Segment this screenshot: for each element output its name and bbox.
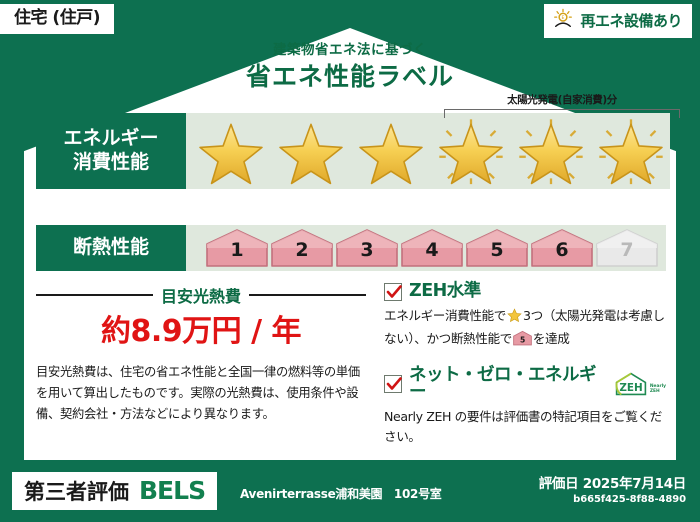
net-zero-energy-block: ネット・ゼロ・エネルギー ZEH Nearly ZEH bbox=[384, 367, 666, 448]
insulation-grade-4: 4 bbox=[401, 228, 463, 268]
property-name: Avenirterrasse浦和美園 102号室 bbox=[240, 488, 441, 500]
evaluation-id: b665f425-8f88-4890 bbox=[539, 493, 686, 507]
star-4 bbox=[432, 115, 510, 187]
zeh-body-part1: エネルギー消費性能で bbox=[384, 308, 506, 323]
grade-number: 6 bbox=[555, 241, 568, 268]
utility-cost-column: 目安光熱費 約8.9万円 / 年 目安光熱費は、住宅の省エネ性能と全国一律の燃料… bbox=[36, 283, 366, 425]
insulation-grades-panel: 1 2 3 4 5 6 7 bbox=[186, 225, 666, 271]
heading-rule-left bbox=[36, 294, 153, 296]
star-3 bbox=[352, 115, 430, 187]
insulation-grade-5: 5 bbox=[466, 228, 528, 268]
star-1 bbox=[192, 115, 270, 187]
lower-content-area: 目安光熱費 約8.9万円 / 年 目安光熱費は、住宅の省エネ性能と全国一律の燃料… bbox=[36, 283, 666, 423]
evaluation-date: 評価日 2025年7月14日 bbox=[539, 476, 686, 493]
utility-cost-title: 目安光熱費 bbox=[161, 283, 241, 307]
insulation-grade-chip: 5 bbox=[513, 330, 532, 352]
insulation-grade-6: 6 bbox=[531, 228, 593, 268]
net-zero-checkbox bbox=[384, 375, 402, 393]
svg-text:E: E bbox=[562, 15, 565, 21]
grade-number: 1 bbox=[230, 241, 243, 268]
zeh-standard-title: ZEH水準 bbox=[409, 283, 481, 301]
net-zero-body: Nearly ZEH の要件は評価書の特記項目をご覧ください。 bbox=[384, 407, 666, 448]
check-icon bbox=[386, 376, 402, 392]
star-2 bbox=[272, 115, 350, 187]
title-subtitle: 建築物省エネ法に基づく bbox=[0, 42, 700, 60]
insulation-performance-label: 断熱性能 bbox=[36, 225, 186, 271]
zeh-standard-body: エネルギー消費性能で 3つ（太陽光発電は考慮しない）、かつ断熱性能で 5 を達成 bbox=[384, 306, 666, 353]
renewable-badge-label: 再エネ設備あり bbox=[580, 14, 682, 29]
check-icon bbox=[386, 284, 402, 300]
zeh-house-logo: ZEH Nearly ZEH bbox=[614, 372, 666, 396]
insulation-grade-scale: 1 2 3 4 5 6 7 bbox=[186, 228, 658, 268]
svg-text:5: 5 bbox=[520, 336, 525, 345]
star-5 bbox=[512, 115, 590, 187]
insulation-performance-row: 断熱性能 1 2 3 4 5 6 7 bbox=[36, 225, 666, 271]
net-zero-title: ネット・ゼロ・エネルギー bbox=[409, 367, 603, 402]
certification-column: ZEH水準 エネルギー消費性能で 3つ（太陽光発電は考慮しない）、かつ断熱性能で… bbox=[384, 283, 666, 448]
star-icon bbox=[507, 308, 522, 329]
label-title-block: 建築物省エネ法に基づく 省エネ性能ラベル bbox=[0, 42, 700, 92]
grade-number: 7 bbox=[620, 241, 633, 268]
label-footer: 第三者評価 BELS Avenirterrasse浦和美園 102号室 評価日 … bbox=[0, 462, 700, 522]
energy-performance-row: エネルギー 消費性能 太陽光発電(自家消費)分 bbox=[36, 113, 666, 189]
energy-label-line1: エネルギー bbox=[63, 127, 158, 151]
insulation-grade-3: 3 bbox=[336, 228, 398, 268]
grade-number: 4 bbox=[425, 241, 438, 268]
zeh-standard-checkbox bbox=[384, 283, 402, 301]
zeh-logo-subtext: Nearly ZEH bbox=[650, 384, 666, 396]
insulation-grade-1: 1 bbox=[206, 228, 268, 268]
heading-rule-right bbox=[249, 294, 366, 296]
third-party-eval-label: 第三者評価 bbox=[24, 482, 129, 503]
zeh-body-part3: を達成 bbox=[533, 331, 570, 346]
net-zero-heading: ネット・ゼロ・エネルギー ZEH Nearly ZEH bbox=[384, 367, 666, 402]
zeh-standard-heading: ZEH水準 bbox=[384, 283, 666, 301]
sun-icon: E bbox=[552, 8, 574, 34]
energy-label-line2: 消費性能 bbox=[73, 151, 149, 175]
star-6 bbox=[592, 115, 670, 187]
solar-annotation-bracket bbox=[444, 109, 680, 118]
bels-certification-plate: 第三者評価 BELS bbox=[12, 472, 217, 510]
zeh-logo-sub-line2: ZEH bbox=[650, 389, 660, 394]
insulation-grade-7: 7 bbox=[596, 228, 658, 268]
utility-cost-note: 目安光熱費は、住宅の省エネ性能と全国一律の燃料等の単価を用いて算出したものです。… bbox=[36, 362, 366, 425]
grade-number: 5 bbox=[490, 241, 503, 268]
energy-performance-label: エネルギー 消費性能 bbox=[36, 113, 186, 189]
evaluation-meta: 評価日 2025年7月14日 b665f425-8f88-4890 bbox=[539, 476, 686, 507]
insulation-grade-2: 2 bbox=[271, 228, 333, 268]
svg-text:ZEH: ZEH bbox=[619, 382, 642, 394]
renewable-equipment-badge: E 再エネ設備あり bbox=[544, 4, 692, 38]
energy-stars-panel: 太陽光発電(自家消費)分 bbox=[186, 113, 670, 189]
grade-number: 2 bbox=[295, 241, 308, 268]
utility-cost-heading: 目安光熱費 bbox=[36, 283, 366, 307]
housing-type-tag: 住宅 (住戸) bbox=[0, 4, 114, 34]
bels-wordmark: BELS bbox=[139, 478, 205, 503]
utility-cost-value: 約8.9万円 / 年 bbox=[36, 313, 366, 351]
energy-star-rating bbox=[186, 115, 670, 187]
title-main: 省エネ性能ラベル bbox=[0, 61, 700, 92]
solar-annotation-text: 太陽光発電(自家消費)分 bbox=[438, 95, 686, 106]
bels-energy-label: 住宅 (住戸) E 再エネ設備あり 建築物省エネ法に基づく 省エネ性能ラベル bbox=[0, 0, 700, 522]
zeh-standard-block: ZEH水準 エネルギー消費性能で 3つ（太陽光発電は考慮しない）、かつ断熱性能で… bbox=[384, 283, 666, 353]
grade-number: 3 bbox=[360, 241, 373, 268]
